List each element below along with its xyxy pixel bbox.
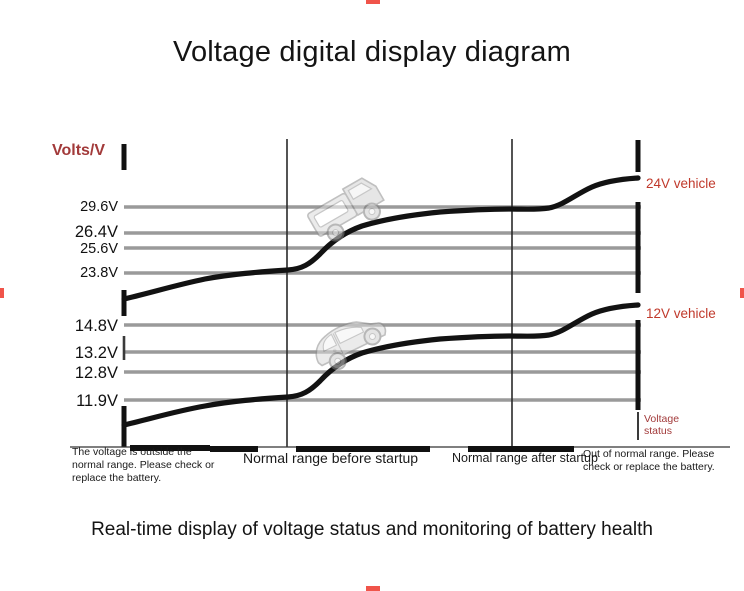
zone-caption-normal-before-startup: Normal range before startup (243, 452, 443, 465)
diagram-canvas: Voltage digital display diagram Real-tim… (0, 0, 744, 591)
car-icon (308, 309, 392, 376)
zone-caption-out-of-range-high: Out of normal range. Please check or rep… (583, 448, 715, 474)
voltage-status-line2: status (644, 425, 704, 437)
legend-label-24v-vehicle: 24V vehicle (646, 176, 716, 191)
voltage-status-line1: Voltage (644, 413, 704, 425)
gridlines-upper (124, 207, 641, 273)
voltage-status-label: Voltage status (644, 413, 704, 437)
truck-icon (305, 174, 390, 247)
chart-plot-area (0, 0, 744, 591)
zone-caption-out-of-range-low: The voltage is outside the normal range.… (72, 446, 217, 485)
legend-label-12v-vehicle: 12V vehicle (646, 306, 716, 321)
